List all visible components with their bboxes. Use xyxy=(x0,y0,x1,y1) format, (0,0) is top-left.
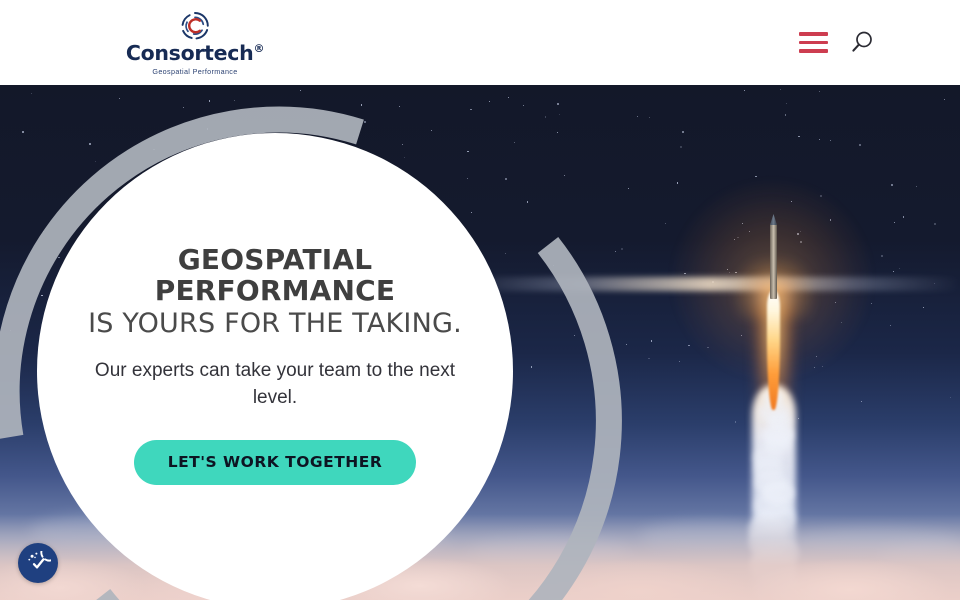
consortech-swirl-logo-icon xyxy=(175,10,215,42)
hamburger-menu-icon[interactable] xyxy=(799,32,828,53)
hero-section: GEOSPATIAL PERFORMANCE IS YOURS FOR THE … xyxy=(0,85,960,600)
magnifier-glyph xyxy=(850,30,874,55)
cloud-layer xyxy=(0,514,960,600)
header-actions xyxy=(799,0,960,85)
site-header: Consortech® Geospatial Performance xyxy=(0,0,960,85)
registered-mark: ® xyxy=(253,42,264,55)
page-title: GEOSPATIAL PERFORMANCE IS YOURS FOR THE … xyxy=(75,245,475,338)
cookie-consent-icon xyxy=(26,551,51,576)
brand-name: Consortech® xyxy=(126,43,264,64)
brand-logo-link[interactable]: Consortech® Geospatial Performance xyxy=(110,10,280,76)
cookie-consent-button[interactable] xyxy=(18,543,58,583)
search-icon[interactable] xyxy=(850,30,874,55)
rocket-body xyxy=(770,222,777,299)
headline-strong: GEOSPATIAL PERFORMANCE xyxy=(75,245,475,307)
lets-work-together-button[interactable]: LET'S WORK TOGETHER xyxy=(134,440,417,485)
menu-bar-2 xyxy=(799,41,828,45)
hero-content: GEOSPATIAL PERFORMANCE IS YOURS FOR THE … xyxy=(75,245,475,485)
menu-bar-3 xyxy=(799,49,828,53)
headline-light: IS YOURS FOR THE TAKING. xyxy=(75,309,475,339)
brand-tagline: Geospatial Performance xyxy=(152,67,237,76)
lens-flare-streak xyxy=(460,277,960,291)
hero-subheading: Our experts can take your team to the ne… xyxy=(75,358,475,412)
menu-bar-1 xyxy=(799,32,828,36)
